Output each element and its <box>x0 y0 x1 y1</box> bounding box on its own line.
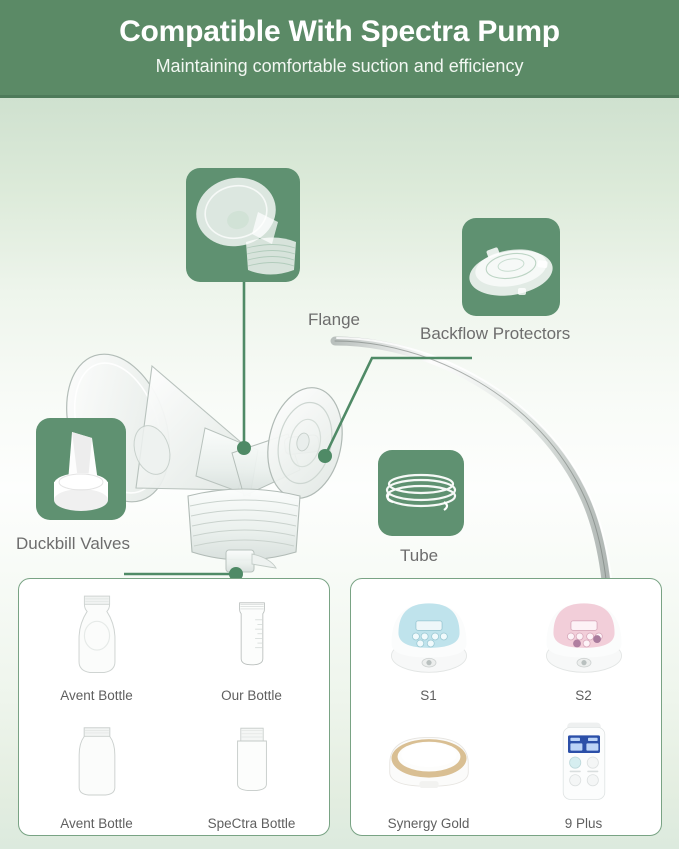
header-banner: Compatible With Spectra Pump Maintaining… <box>0 0 679 98</box>
bottle-label: Avent Bottle <box>60 815 133 832</box>
pump-art <box>351 579 506 687</box>
callout-label-backflow: Backflow Protectors <box>420 324 570 344</box>
pump-item[interactable]: Synergy Gold <box>351 707 506 835</box>
our-bottle-icon <box>221 592 283 674</box>
page-title: Compatible With Spectra Pump <box>0 0 679 51</box>
page-subtitle: Maintaining comfortable suction and effi… <box>0 51 679 78</box>
callout-label-flange: Flange <box>308 310 360 330</box>
bottle-item[interactable]: Avent Bottle <box>19 707 174 835</box>
backflow-protector-icon <box>462 218 560 316</box>
pump-art <box>351 707 506 815</box>
infographic-page: Compatible With Spectra Pump Maintaining… <box>0 0 679 849</box>
flange-icon <box>186 168 300 282</box>
callout-tile-flange[interactable] <box>186 168 300 282</box>
bottle-label: Our Bottle <box>221 687 282 704</box>
bottle-label: Avent Bottle <box>60 687 133 704</box>
pump-label: S2 <box>575 687 592 704</box>
pump-label: S1 <box>420 687 437 704</box>
bottle-item[interactable]: SpeCtra Bottle <box>174 707 329 835</box>
spectra-bottle-icon <box>220 719 284 803</box>
spectra-9plus-pump-icon <box>556 718 612 804</box>
bottle-item[interactable]: Our Bottle <box>174 579 329 707</box>
compatible-pumps-panel: S1 <box>350 578 662 836</box>
callout-tile-backflow[interactable] <box>462 218 560 316</box>
pump-item[interactable]: S2 <box>506 579 661 707</box>
callout-tile-tube[interactable] <box>378 450 464 536</box>
pump-item[interactable]: S1 <box>351 579 506 707</box>
synergy-gold-pump-icon <box>381 721 477 801</box>
bottle-item[interactable]: Avent Bottle <box>19 579 174 707</box>
bottle-art <box>19 707 174 815</box>
bottle-label: SpeCtra Bottle <box>208 815 296 832</box>
spectra-s1-pump-icon <box>381 589 477 677</box>
bottles-grid: Avent Bottle <box>19 579 329 835</box>
duckbill-valve-icon <box>36 418 126 520</box>
pump-label: 9 Plus <box>565 815 603 832</box>
bottle-art <box>19 579 174 687</box>
pump-art <box>506 579 661 687</box>
callout-tile-duckbill[interactable] <box>36 418 126 520</box>
pump-art <box>506 707 661 815</box>
callout-label-tube: Tube <box>400 546 438 566</box>
pumps-grid: S1 <box>351 579 661 835</box>
bottle-art <box>174 707 329 815</box>
callout-label-duckbill: Duckbill Valves <box>16 534 130 554</box>
pump-item[interactable]: 9 Plus <box>506 707 661 835</box>
bottle-art <box>174 579 329 687</box>
pump-label: Synergy Gold <box>388 815 470 832</box>
tube-coil-icon <box>378 450 464 536</box>
compatible-bottles-panel: Avent Bottle <box>18 578 330 836</box>
avent-wide-bottle-icon <box>63 718 131 804</box>
avent-bottle-icon <box>61 589 133 677</box>
diagram-stage: Flange Backflow Protectors <box>0 98 679 849</box>
spectra-s2-pump-icon <box>536 589 632 677</box>
